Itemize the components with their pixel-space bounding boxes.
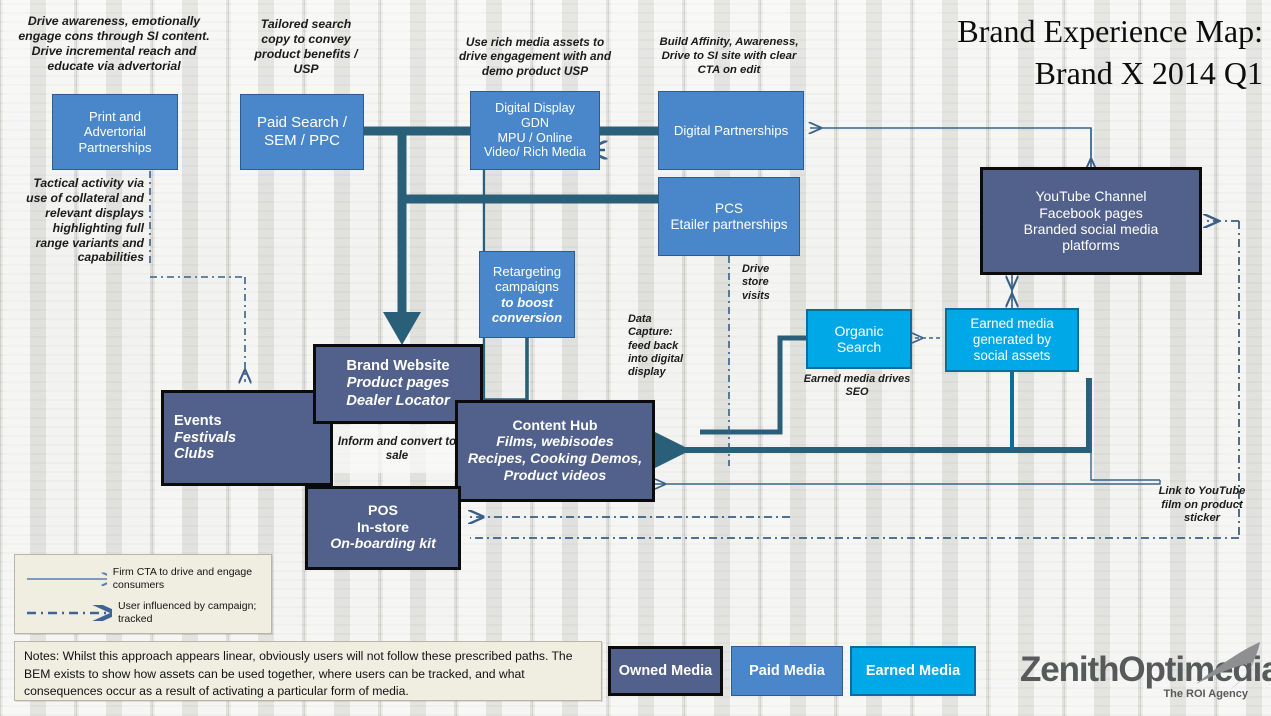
legend-row-solid: Firm CTA to drive and engage consumers — [25, 563, 265, 595]
notes-panel: Notes: Whilst this approach appears line… — [14, 641, 602, 701]
zenithoptimedia-logo: ZenithOptimedia The ROI Agency — [1000, 640, 1262, 706]
note-data-capture: Data Capture: feed back into digital dis… — [628, 313, 698, 379]
box-line: In-store — [357, 520, 409, 537]
legend-panel: Firm CTA to drive and engage consumers U… — [14, 554, 272, 634]
box-line: Branded social media — [1024, 221, 1159, 237]
box-line: GDN — [521, 116, 549, 131]
box-line: Content Hub — [512, 418, 597, 435]
box-pcs-etailer-partnerships[interactable]: PCS Etailer partnerships — [658, 177, 800, 256]
box-line: Films, webisodes — [496, 434, 613, 451]
box-line: generated by — [973, 332, 1051, 348]
note-digital-display: Use rich media assets to drive engagemen… — [455, 35, 615, 78]
legend-solid-label: Firm CTA to drive and engage consumers — [113, 566, 265, 592]
box-line: Video/ Rich Media — [484, 145, 586, 160]
box-line: Print and — [89, 109, 141, 124]
box-line: Advertorial — [84, 124, 146, 139]
title-line-2: Brand X 2014 Q1 — [843, 52, 1263, 94]
legend-row-dashed: User influenced by campaign; tracked — [25, 597, 265, 629]
box-line: Organic — [834, 323, 883, 339]
box-digital-display[interactable]: Digital Display GDN MPU / Online Video/ … — [470, 91, 600, 170]
note-earned-drives-seo: Earned media drives SEO — [802, 373, 912, 400]
logo-tagline: The ROI Agency — [1163, 688, 1248, 700]
dashed-arrow-icon — [25, 605, 112, 621]
key-owned-label: Owned Media — [619, 663, 712, 679]
note-link-to-youtube: Link to YouTube film on product sticker — [1148, 485, 1256, 526]
box-digital-partnerships[interactable]: Digital Partnerships — [658, 91, 804, 170]
box-line: to boost — [501, 295, 553, 310]
box-line: campaigns — [495, 279, 559, 294]
box-youtube-facebook-social[interactable]: YouTube Channel Facebook pages Branded s… — [980, 167, 1202, 275]
note-drive-store-visits: Drive store visits — [742, 263, 790, 303]
box-line: Search — [837, 339, 881, 355]
notes-text: Notes: Whilst this approach appears line… — [24, 648, 592, 701]
box-line: MPU / Online — [498, 131, 573, 146]
box-line: On-boarding kit — [330, 536, 436, 553]
note-inform-and-convert: Inform and convert to sale — [334, 425, 460, 473]
box-line: Etailer partnerships — [670, 217, 787, 233]
box-line: conversion — [492, 310, 562, 325]
legend-dashed-label: User influenced by campaign; tracked — [118, 600, 265, 626]
brand-experience-map: Brand Experience Map: Brand X 2014 Q1 Dr… — [0, 0, 1271, 716]
box-pos-in-store[interactable]: POS In-store On-boarding kit — [305, 486, 461, 570]
box-line: Facebook pages — [1039, 205, 1143, 221]
title-line-1: Brand Experience Map: — [843, 10, 1263, 52]
box-line: YouTube Channel — [1035, 188, 1146, 204]
box-line: Digital Partnerships — [674, 123, 788, 138]
box-line: Paid Search / — [257, 114, 347, 132]
box-line: Festivals — [174, 430, 236, 447]
note-print-advertorial: Drive awareness, emotionally engage cons… — [8, 14, 220, 74]
note-tactical-activity: Tactical activity via use of collateral … — [18, 176, 144, 265]
box-line: Earned media — [970, 316, 1053, 332]
key-paid-media[interactable]: Paid Media — [731, 646, 843, 696]
box-line: POS — [368, 503, 398, 520]
key-earned-media[interactable]: Earned Media — [850, 646, 976, 696]
box-line: Digital Display — [495, 101, 575, 116]
box-line: Partnerships — [79, 140, 152, 155]
box-print-advertorial-partnerships[interactable]: Print and Advertorial Partnerships — [52, 94, 178, 170]
box-line: PCS — [715, 201, 743, 217]
box-earned-media-generated[interactable]: Earned media generated by social assets — [945, 308, 1079, 372]
box-line: Events — [174, 413, 222, 430]
note-digital-partnerships: Build Affinity, Awareness, Drive to SI s… — [650, 36, 808, 78]
key-earned-label: Earned Media — [866, 663, 960, 679]
key-owned-media[interactable]: Owned Media — [608, 646, 723, 696]
box-line: Retargeting — [493, 264, 561, 279]
box-paid-search-sem-ppc[interactable]: Paid Search / SEM / PPC — [240, 94, 364, 170]
box-organic-search[interactable]: Organic Search — [806, 309, 912, 369]
box-line: platforms — [1062, 237, 1120, 253]
box-line: social assets — [974, 348, 1051, 364]
box-line: Product videos — [504, 468, 607, 485]
key-paid-label: Paid Media — [749, 663, 825, 679]
box-line: Clubs — [174, 446, 214, 463]
box-line: Dealer Locator — [346, 393, 450, 410]
page-title: Brand Experience Map: Brand X 2014 Q1 — [843, 10, 1263, 94]
box-line: Product pages — [347, 375, 450, 392]
box-line: Brand Website — [346, 358, 449, 375]
box-line: SEM / PPC — [264, 132, 340, 150]
box-content-hub[interactable]: Content Hub Films, webisodes Recipes, Co… — [455, 400, 655, 502]
box-line: Recipes, Cooking Demos, — [468, 451, 642, 468]
solid-arrow-icon — [25, 571, 107, 587]
note-paid-search: Tailored search copy to convey product b… — [252, 17, 360, 77]
box-events-festivals-clubs[interactable]: Events Festivals Clubs — [161, 390, 333, 486]
box-retargeting-campaigns[interactable]: Retargeting campaigns to boost conversio… — [479, 251, 575, 338]
